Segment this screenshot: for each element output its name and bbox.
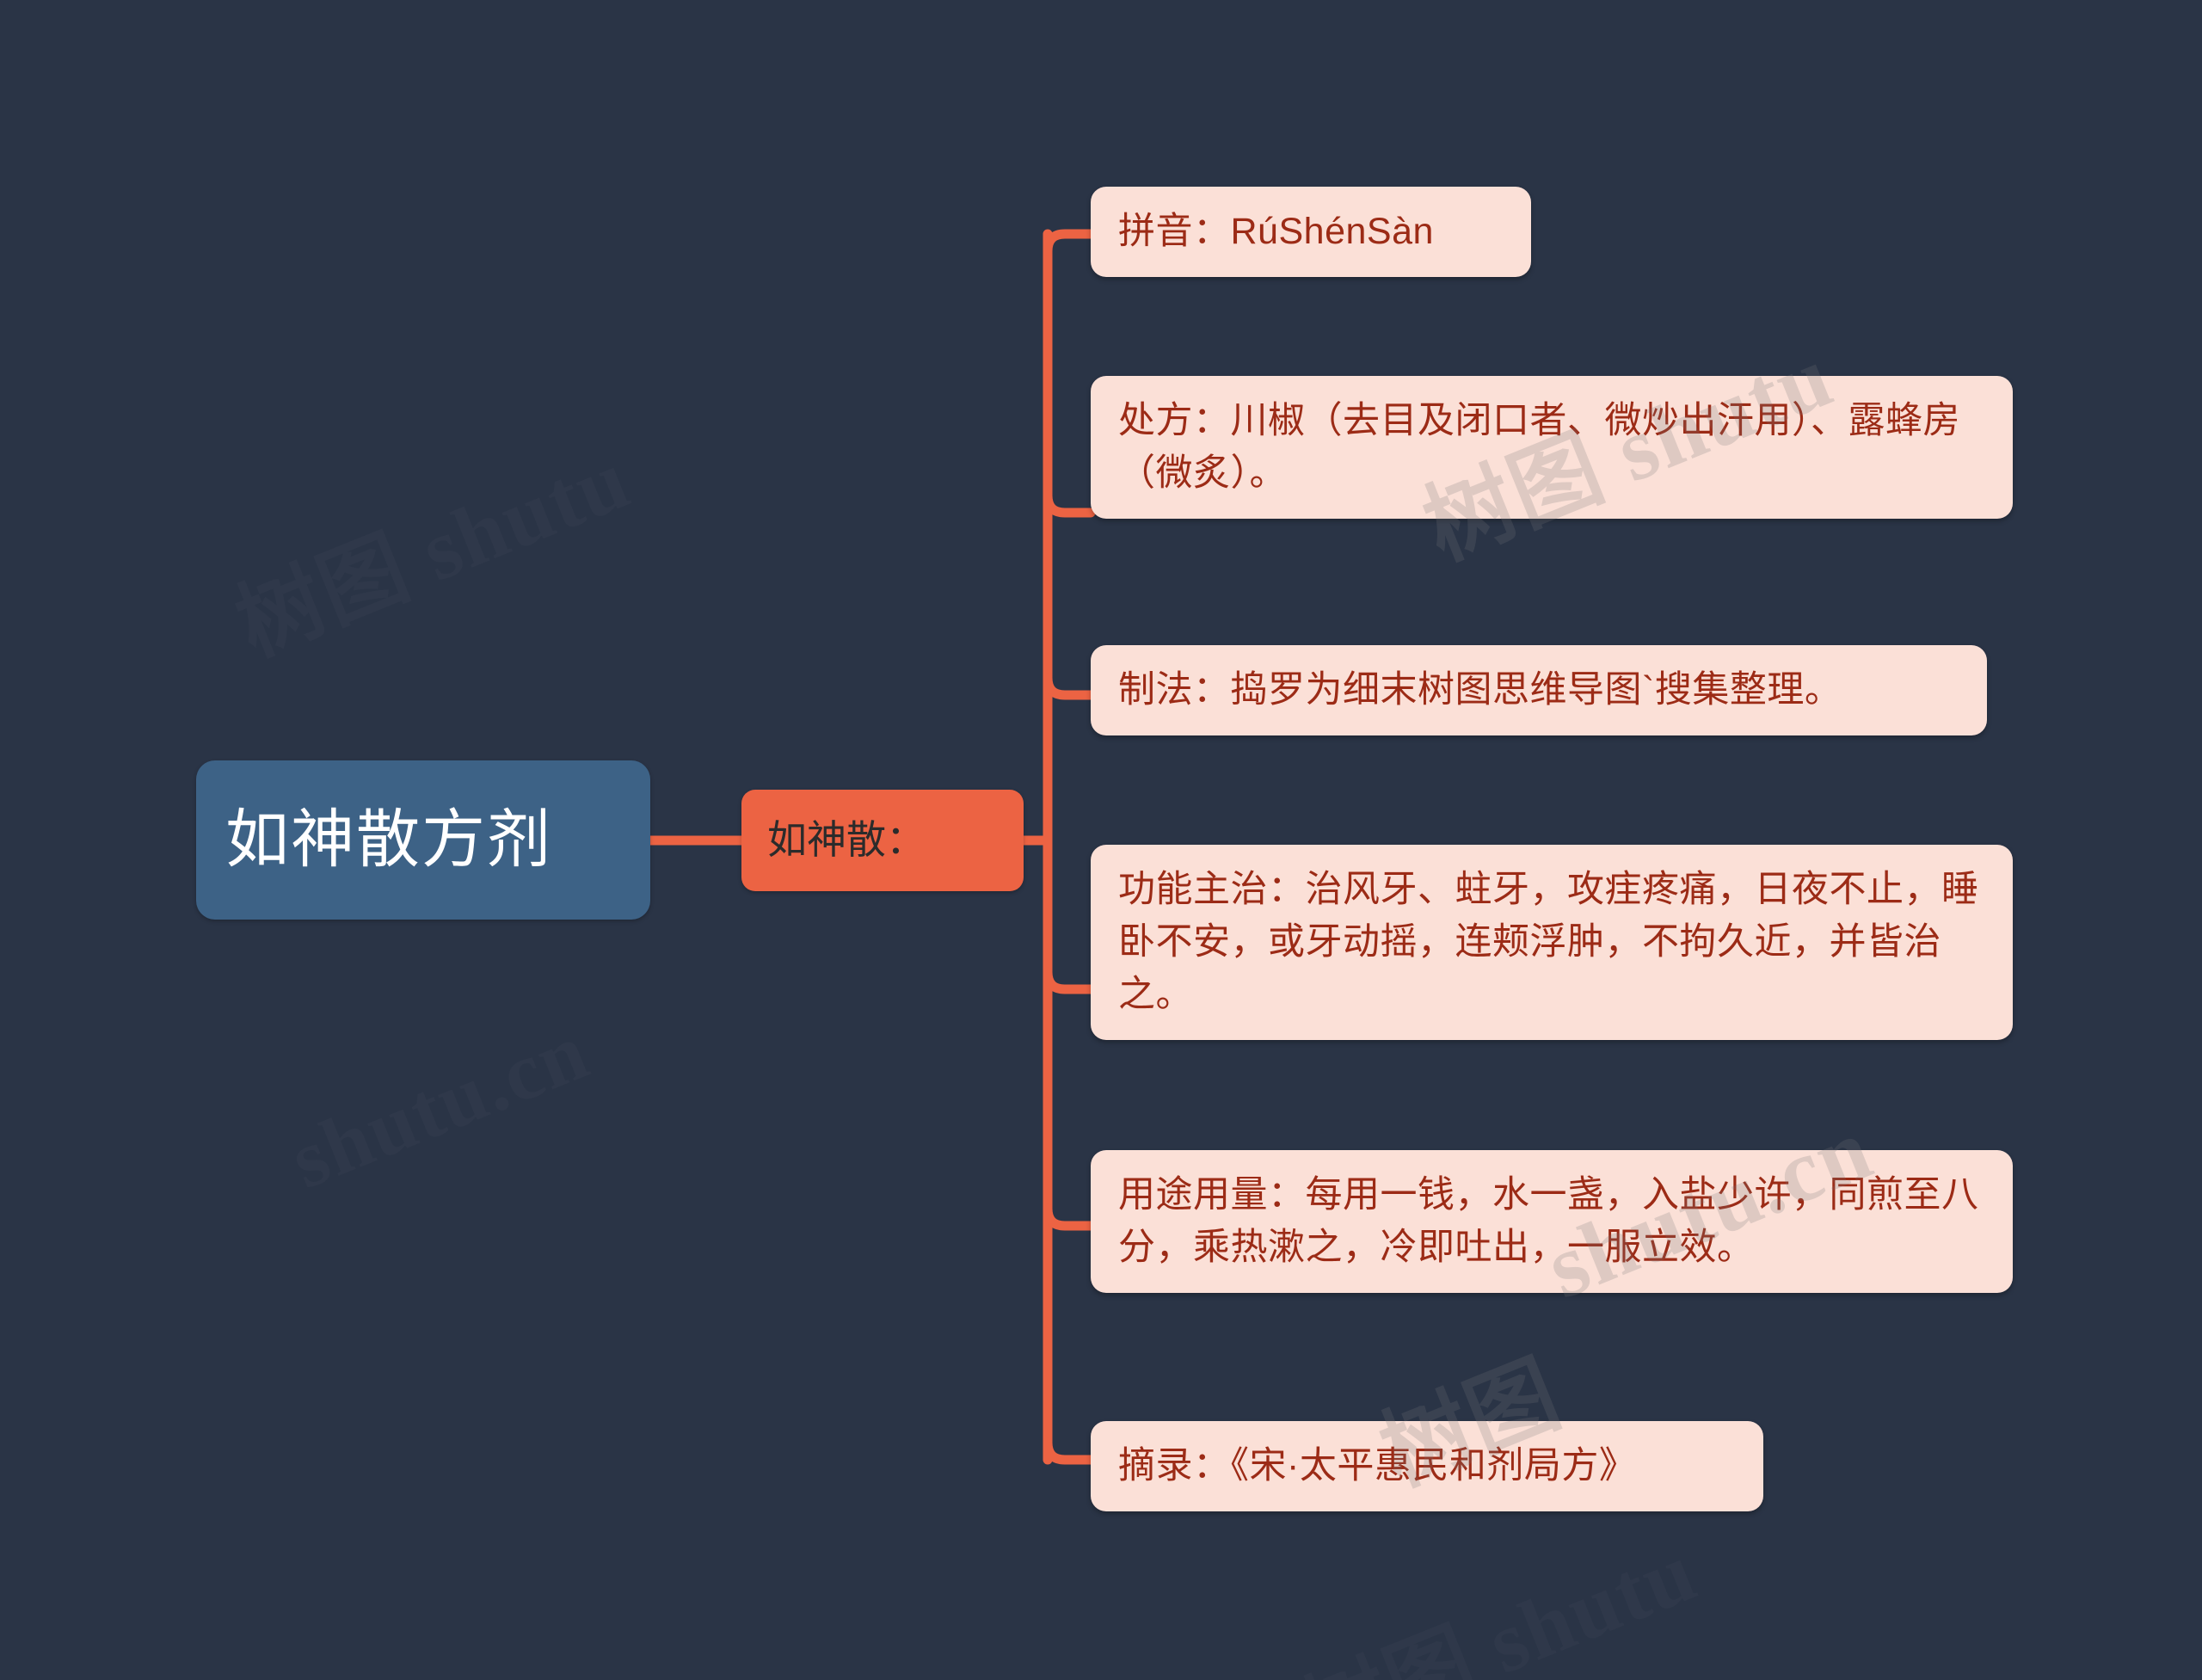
leaf-node-source[interactable]: 摘录：《宋·太平惠民和剂局方》: [1091, 1421, 1763, 1511]
root-node-label: 如神散方剂: [225, 802, 552, 878]
edge-trunk-to-leaf-3: [1048, 972, 1091, 989]
edge-trunk-to-leaf-5: [1048, 1443, 1091, 1460]
leaf-node-label: 制法：捣罗为细末树图思维导图`搜集整理。: [1118, 664, 1842, 717]
leaf-node-label: 用途用量：每用一钱，水一盏，入盐少许，同煎至八分，乘热漱之，冷即吐出，一服立效。: [1118, 1169, 1985, 1274]
edge-trunk-to-leaf-1: [1048, 495, 1091, 513]
root-node[interactable]: 如神散方剂: [196, 760, 650, 920]
leaf-node-label: 功能主治：治风牙、蛀牙，攻疰疼痛，日夜不止，睡卧不安，或牙动摇，连颊浮肿，不拘久…: [1118, 864, 1985, 1021]
leaf-node-label: 摘录：《宋·太平惠民和剂局方》: [1118, 1440, 1636, 1492]
edge-trunk-to-leaf-2: [1048, 678, 1091, 695]
branch-node-label: 如神散：: [767, 815, 926, 865]
leaf-node-pinyin[interactable]: 拼音：RúShénSàn: [1091, 187, 1531, 277]
edge-trunk-to-leaf-4: [1048, 1209, 1091, 1226]
leaf-node-dosage[interactable]: 用途用量：每用一钱，水一盏，入盐少许，同煎至八分，乘热漱之，冷即吐出，一服立效。: [1091, 1150, 2013, 1293]
edge-trunk-to-leaf-0: [1048, 234, 1091, 251]
leaf-node-prescription[interactable]: 处方：川椒（去目及闭口者、微炒出汗用）、露蜂房（微炙）。: [1091, 376, 2013, 519]
leaf-node-label: 拼音：RúShénSàn: [1118, 206, 1434, 258]
leaf-node-indications[interactable]: 功能主治：治风牙、蛀牙，攻疰疼痛，日夜不止，睡卧不安，或牙动摇，连颊浮肿，不拘久…: [1091, 845, 2013, 1040]
leaf-node-preparation[interactable]: 制法：捣罗为细末树图思维导图`搜集整理。: [1091, 645, 1987, 735]
leaf-node-label: 处方：川椒（去目及闭口者、微炒出汗用）、露蜂房（微炙）。: [1118, 395, 1985, 500]
mindmap-canvas[interactable]: 树图 shutu shutu.cn 树图 shutu 如神散方剂 如神散： 拼: [0, 0, 2202, 1680]
branch-node[interactable]: 如神散：: [741, 790, 1024, 891]
